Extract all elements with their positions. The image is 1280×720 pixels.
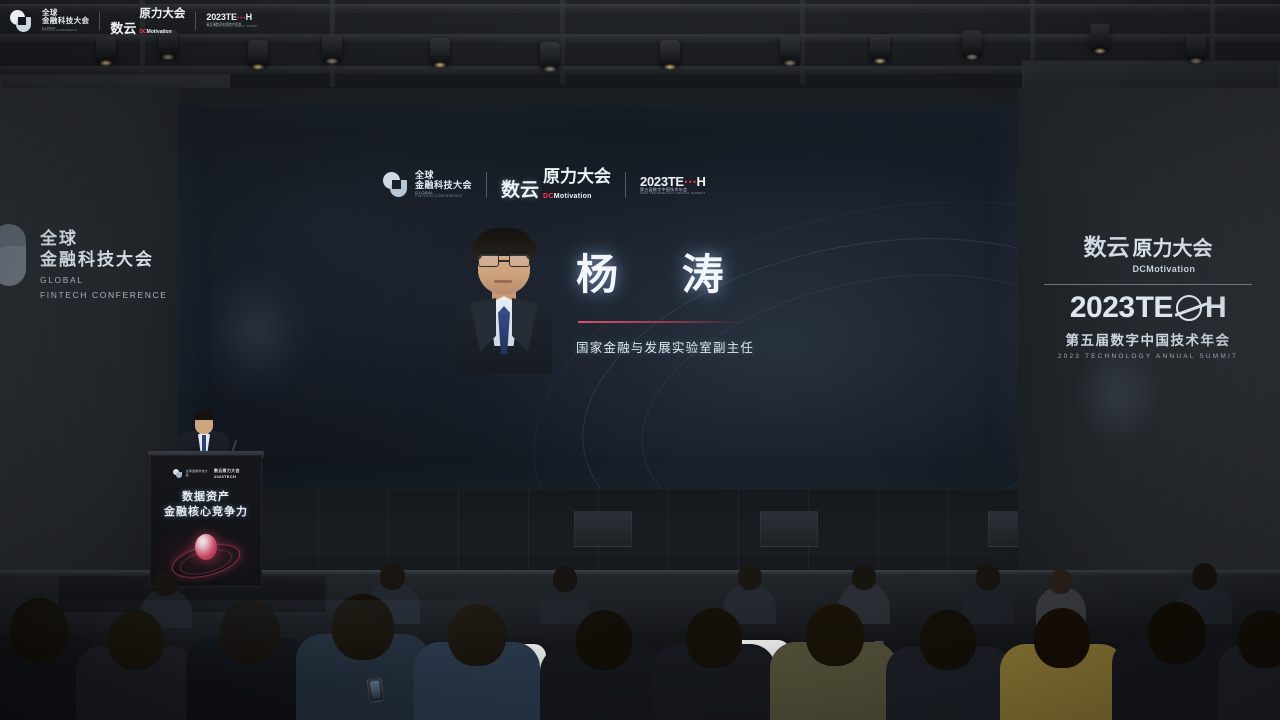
- attendee-head: [553, 566, 577, 592]
- speaker-title: 国家金融与发展实验室副主任: [576, 337, 916, 356]
- attendee-head: [852, 564, 876, 590]
- speaker-name: 杨 涛: [576, 241, 916, 302]
- attendee-head: [380, 563, 405, 590]
- wall-sign-left-en1: GLOBAL: [40, 275, 168, 286]
- stage-light: [540, 42, 560, 68]
- wall-sign-left-cn1: 全球: [40, 228, 168, 249]
- wall-sign-right-dcm-left: 数云: [1084, 228, 1130, 262]
- attendee-head: [1192, 563, 1217, 590]
- bug-tech-word-tail: H: [246, 12, 252, 22]
- wall-sign-right-divider: [1044, 284, 1252, 285]
- bug-tech-logo: 2023TE⋯H 第五届数字中国技术年会 2023 TECHNOLOGY ANN…: [206, 13, 258, 29]
- podium-logo-dcm: 数云原力大会 2023TECH: [214, 468, 261, 479]
- screen-dcm-cn-left: 数云: [501, 175, 539, 202]
- wall-sign-right-dcm-en: DCMotivation: [1133, 264, 1196, 274]
- bug-divider: [195, 12, 196, 30]
- attendee-head: [154, 570, 178, 596]
- podium-logo: 全球金融科技大会 数云原力大会 2023TECH: [173, 468, 261, 479]
- wall-sign-right-sub-en: 2023 TECHNOLOGY ANNUAL SUMMIT: [1038, 353, 1258, 360]
- podium-title-line2: 金融核心竞争力: [151, 505, 261, 520]
- bug-divider: [99, 12, 100, 30]
- main-led-screen: 全球 金融科技大会 GLOBAL FINTECH CONFERENCE 数云 原…: [178, 106, 1018, 491]
- wall-sign-right-tech-pre: TE: [1136, 293, 1173, 323]
- speaker-name-rule: [578, 321, 746, 323]
- stage-light: [870, 34, 890, 60]
- bug-tech-word: TE: [226, 12, 237, 22]
- bug-dcm-cn-right: 原力大会: [139, 8, 185, 20]
- stage-light: [1090, 24, 1110, 50]
- podium-logo-cn: 全球金融科技大会: [186, 470, 210, 477]
- screen-gfc-en2: FINTECH CONFERENCE: [415, 195, 472, 199]
- wall-sign-right-dcm-right: 原力大会: [1133, 238, 1213, 260]
- attendee-head: [976, 564, 1000, 590]
- screen-tech-sub-en: 2023 TECHNOLOGY ANNUAL SUMMIT: [640, 192, 706, 195]
- screen-dcm-en-white: Motivation: [554, 193, 592, 200]
- logo-divider: [486, 172, 487, 198]
- stage-light: [1186, 34, 1206, 60]
- broadcast-logo-bug: 全球 金融科技大会 GLOBAL FINTECH CONFERENCE 数云 原…: [10, 5, 258, 37]
- screen-tech-word-tail: H: [696, 174, 705, 189]
- bug-dcm-cn-left: 数云: [110, 18, 136, 37]
- wall-sign-left-cn2: 金融科技大会: [40, 249, 168, 270]
- gfc-logo-mark: [173, 469, 182, 478]
- bug-tech-sub-en: 2023 TECHNOLOGY ANNUAL SUMMIT: [206, 26, 258, 29]
- stage-light: [660, 40, 680, 66]
- bug-tech-year: 2023: [206, 12, 225, 22]
- speaker-portrait: [456, 228, 552, 374]
- gfc-logo-mark: [10, 10, 32, 33]
- wall-sign-right-year: 2023: [1070, 293, 1135, 323]
- screen-dcm-cn-right: 原力大会: [543, 167, 611, 186]
- stage-light: [962, 30, 982, 56]
- wall-sign-right-sub-cn: 第五届数字中国技术年会: [1038, 329, 1258, 349]
- gfc-logo: 全球 金融科技大会 GLOBAL FINTECH CONFERENCE: [383, 171, 472, 199]
- screen-dcm-en-red: DC: [543, 193, 554, 200]
- tech-logo: 2023TE⋯H 第五届数字中国技术年会 2023 TECHNOLOGY ANN…: [640, 175, 706, 196]
- bug-dcm-en-white: Motivation: [147, 29, 172, 35]
- wall-sign-right: 数云 原力大会 DCMotivation 2023TEH 第五届数字中国技术年会…: [1038, 228, 1258, 360]
- stage-light: [248, 40, 268, 66]
- bug-dcm-logo: 数云 原力大会 DCMotivation: [110, 5, 185, 37]
- gfc-logo-mark: [383, 172, 408, 198]
- attendee-head: [738, 564, 762, 590]
- attendee-head: [1049, 569, 1072, 594]
- podium-title-line1: 数据资产: [151, 490, 261, 505]
- stage-light: [430, 38, 450, 64]
- wall-sign-left-en2: FINTECH CONFERENCE: [40, 290, 168, 301]
- logo-divider: [625, 172, 626, 198]
- screenshot-root: 全球 金融科技大会 GLOBAL FINTECH CONFERENCE 数云 原…: [0, 0, 1280, 720]
- dcm-logo: 数云 原力大会 DCMotivation: [501, 168, 611, 202]
- wall-sign-right-tech-post: H: [1205, 293, 1226, 323]
- stage-light: [780, 36, 800, 62]
- bug-gfc-cn2: 金融科技大会: [42, 17, 89, 25]
- gfc-logo-mark: [0, 224, 38, 294]
- screen-gfc-cn2: 金融科技大会: [415, 181, 472, 190]
- bug-dcm-en-red: DC: [139, 29, 146, 35]
- screen-logo-lockup: 全球 金融科技大会 GLOBAL FINTECH CONFERENCE 数云 原…: [383, 168, 706, 202]
- eyeglasses-icon: [478, 254, 530, 268]
- bug-gfc-en2: FINTECH CONFERENCE: [42, 30, 89, 33]
- stage-light: [96, 36, 116, 62]
- stage-light: [322, 34, 342, 60]
- tech-swoosh-icon: [1176, 295, 1202, 321]
- speaker-name-block: 杨 涛 国家金融与发展实验室副主任: [576, 241, 916, 356]
